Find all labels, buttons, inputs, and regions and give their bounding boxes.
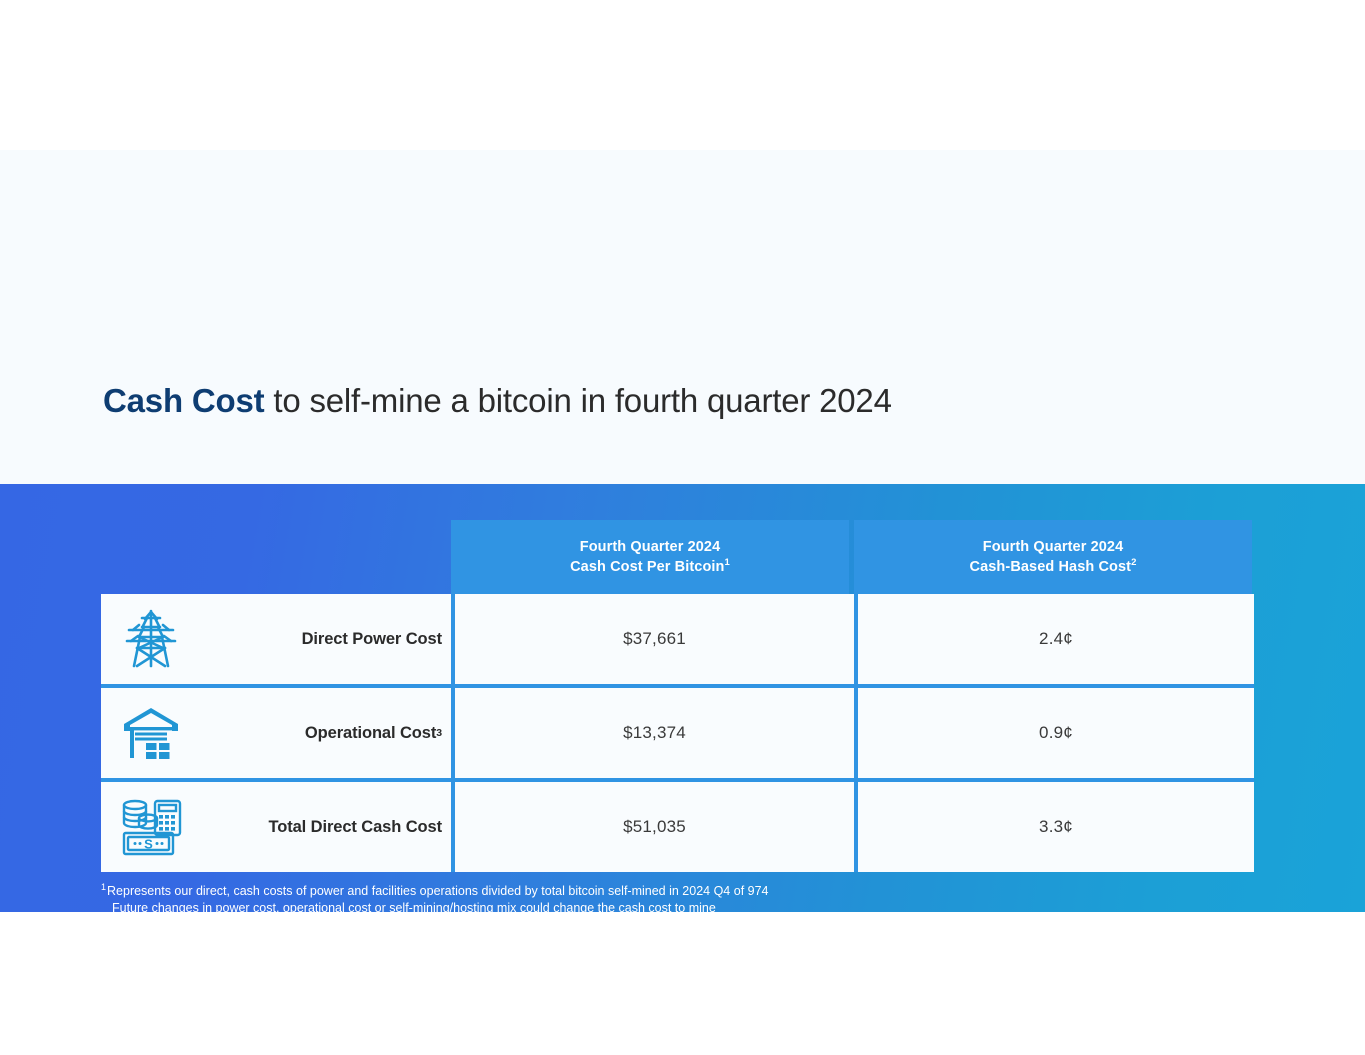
footnote-1-continued: Future changes in power cost, operationa… — [101, 900, 1101, 912]
warehouse-icon — [121, 705, 181, 761]
footnote-ref-1: 1 — [725, 557, 730, 568]
cell-cash-based-hash-cost: 2.4¢ — [854, 594, 1254, 684]
table-row: Direct Power Cost $37,661 2.4¢ — [101, 594, 1254, 684]
cash-cost-table: Fourth Quarter 2024 Cash Cost Per Bitcoi… — [101, 520, 1254, 872]
column-header-cash-cost-per-bitcoin: Fourth Quarter 2024 Cash Cost Per Bitcoi… — [451, 520, 849, 594]
header-line-1: Fourth Quarter 2024 — [983, 537, 1124, 557]
table-header-row: Fourth Quarter 2024 Cash Cost Per Bitcoi… — [101, 520, 1254, 594]
cell-cash-cost-per-bitcoin: $37,661 — [451, 594, 854, 684]
title-accent: Cash Cost — [103, 382, 264, 419]
footnote-ref-2: 2 — [1131, 557, 1136, 568]
table-body: Direct Power Cost $37,661 2.4¢ — [101, 594, 1254, 872]
cell-cash-cost-per-bitcoin: $13,374 — [451, 688, 854, 778]
header-line-2: Cash-Based Hash Cost2 — [970, 557, 1137, 577]
footnote-1: 1Represents our direct, cash costs of po… — [101, 883, 1101, 900]
cell-cash-based-hash-cost: 3.3¢ — [854, 782, 1254, 872]
table-row: S Total Direct Cash Cost $51,035 3.3¢ — [101, 778, 1254, 872]
row-label: Operational Cost3 — [201, 688, 451, 778]
header-spacer — [101, 520, 451, 594]
row-icon-cell — [101, 594, 201, 684]
slide: Cash Cost to self-mine a bitcoin in four… — [0, 150, 1365, 912]
row-label: Total Direct Cash Cost — [201, 782, 451, 872]
svg-text:S: S — [144, 837, 153, 852]
cash-calculator-icon: S — [119, 797, 183, 857]
presentation-slide-canvas: Cash Cost to self-mine a bitcoin in four… — [0, 0, 1365, 1055]
transmission-tower-icon — [121, 608, 181, 670]
footnotes: 1Represents our direct, cash costs of po… — [101, 883, 1101, 912]
page-title: Cash Cost to self-mine a bitcoin in four… — [103, 382, 892, 420]
column-header-cash-based-hash-cost: Fourth Quarter 2024 Cash-Based Hash Cost… — [854, 520, 1252, 594]
header-line-2: Cash Cost Per Bitcoin1 — [570, 557, 730, 577]
row-label: Direct Power Cost — [201, 594, 451, 684]
row-icon-cell: S — [101, 782, 201, 872]
row-icon-cell — [101, 688, 201, 778]
cell-cash-based-hash-cost: 0.9¢ — [854, 688, 1254, 778]
title-rest: to self-mine a bitcoin in fourth quarter… — [264, 382, 891, 419]
table-row: Operational Cost3 $13,374 0.9¢ — [101, 684, 1254, 778]
cell-cash-cost-per-bitcoin: $51,035 — [451, 782, 854, 872]
header-line-1: Fourth Quarter 2024 — [580, 537, 721, 557]
